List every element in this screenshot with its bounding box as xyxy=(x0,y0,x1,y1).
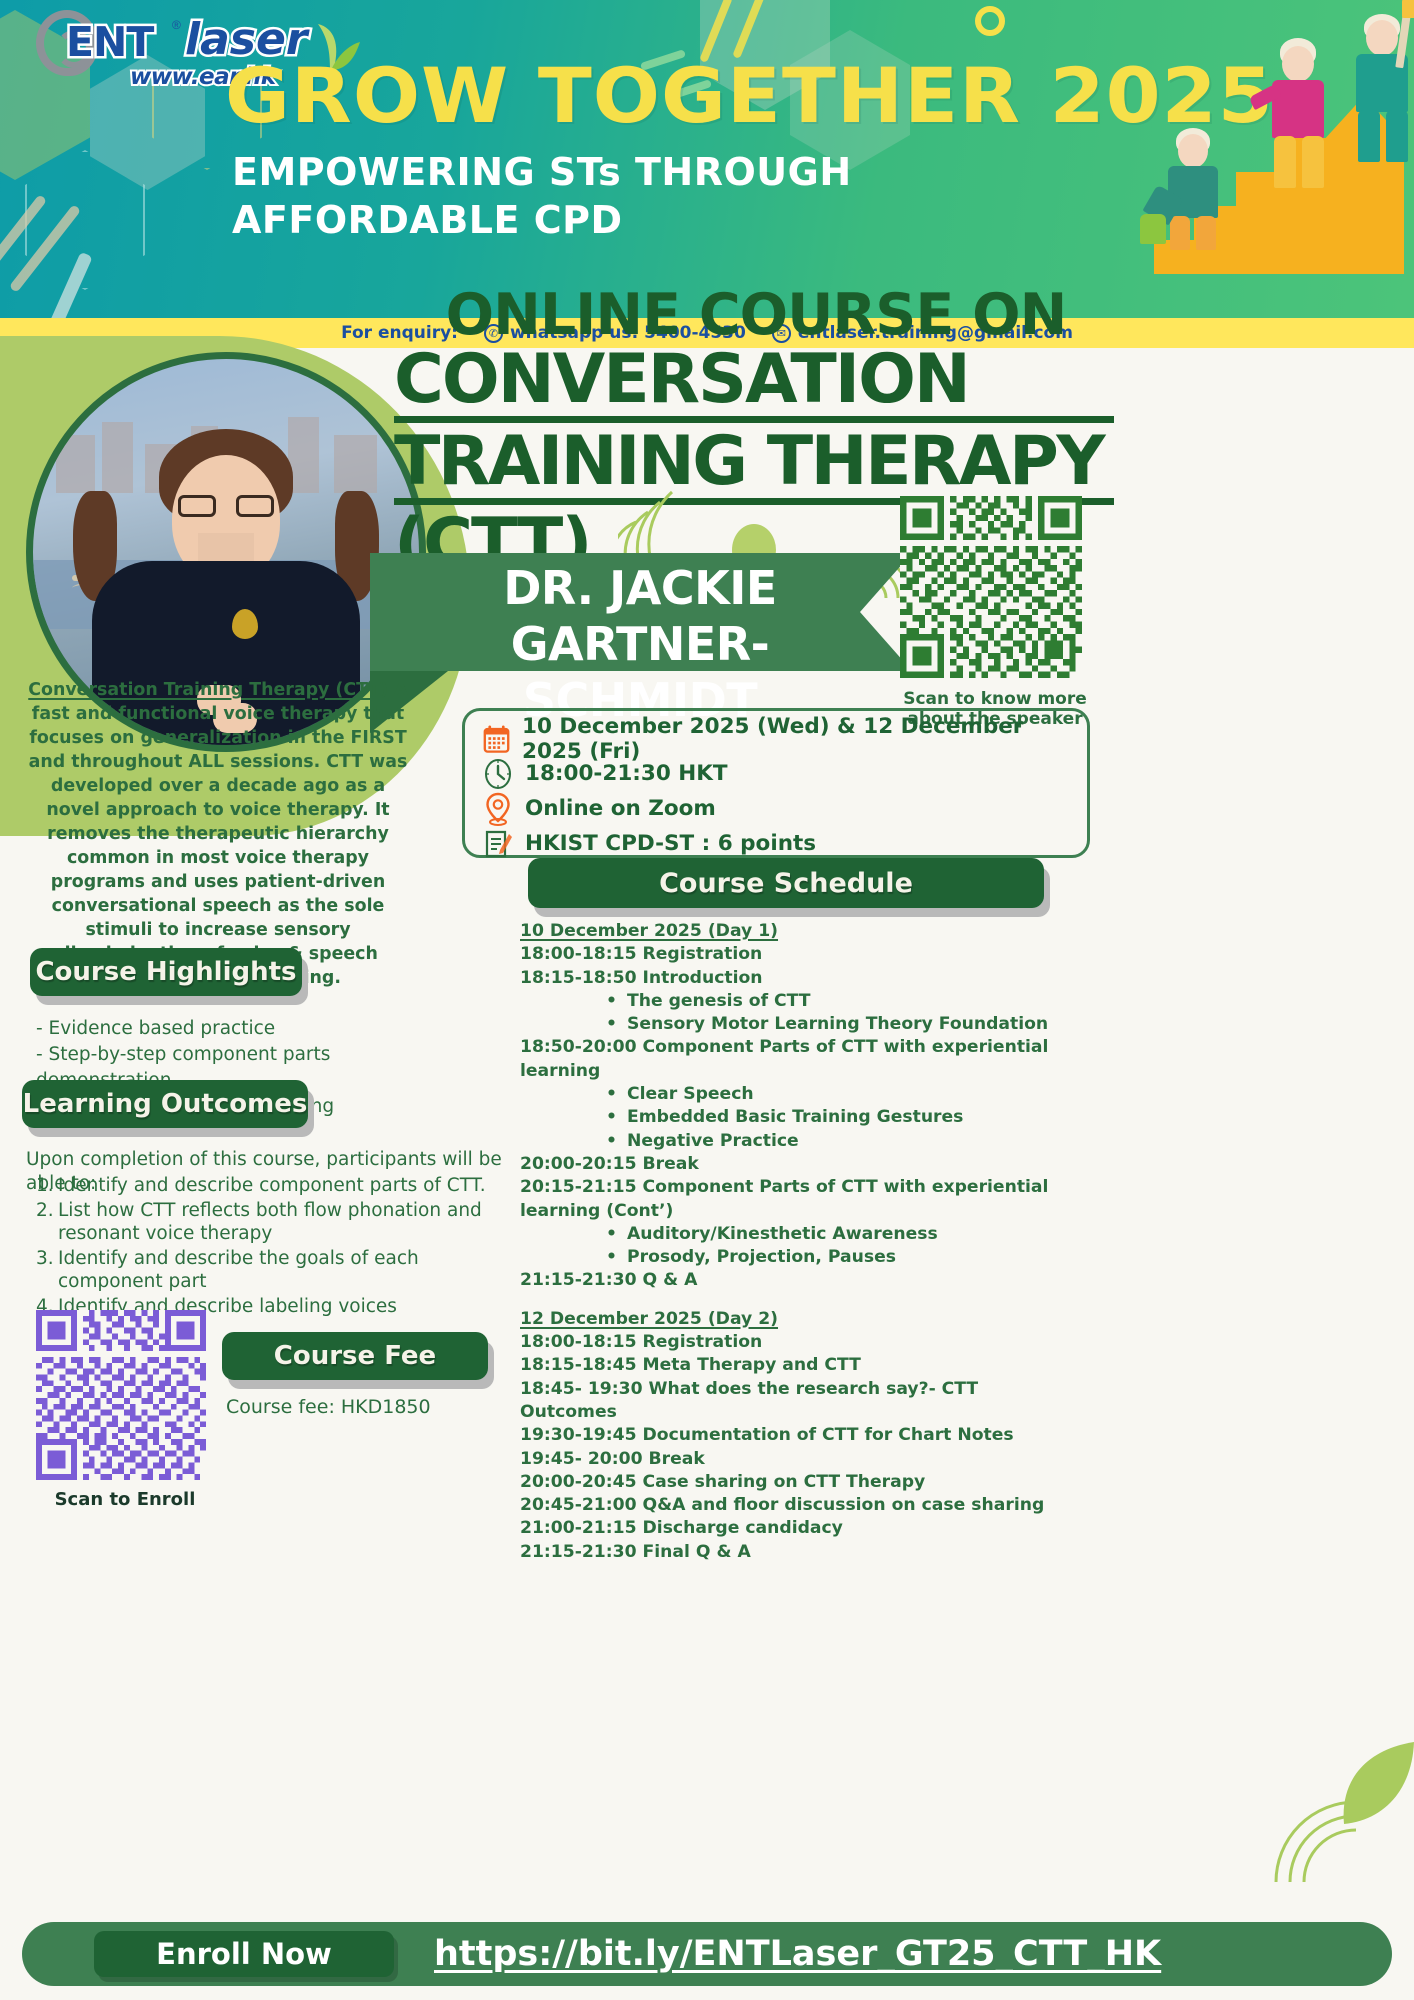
enroll-url-link[interactable]: https://bit.ly/ENTLaser_GT25_CTT_HK xyxy=(434,1934,1161,1974)
schedule-day2-heading: 12 December 2025 (Day 2) xyxy=(520,1308,1080,1331)
people-illustration xyxy=(854,0,1414,318)
leaf-decoration xyxy=(1244,1732,1414,1882)
schedule-bullet: Clear Speech xyxy=(520,1083,1080,1106)
clock-icon xyxy=(483,758,513,790)
schedule-line: 20:00-20:45 Case sharing on CTT Therapy xyxy=(520,1471,1080,1494)
schedule-bullet: Prosody, Projection, Pauses xyxy=(520,1246,1080,1269)
enroll-now-button[interactable]: Enroll Now xyxy=(94,1931,394,1977)
course-description: Conversation Training Therapy (CTT) A fa… xyxy=(22,678,414,990)
speaker-qr-code[interactable] xyxy=(900,496,1082,678)
enroll-qr-block[interactable]: Scan to Enroll xyxy=(36,1310,214,1510)
outcome-number: 1. xyxy=(36,1174,56,1198)
enroll-qr-caption: Scan to Enroll xyxy=(36,1489,214,1510)
enroll-qr-code[interactable] xyxy=(36,1310,206,1480)
schedule-line: 21:15-21:30 Final Q & A xyxy=(520,1541,1080,1564)
outcome-number: 3. xyxy=(36,1247,56,1294)
outcome-text: List how CTT reflects both flow phonatio… xyxy=(58,1199,506,1246)
course-fee-header: Course Fee xyxy=(222,1332,488,1380)
speaker-name-line-1: DR. JACKIE GARTNER- xyxy=(370,560,910,672)
description-heading: Conversation Training Therapy (CTT) xyxy=(28,680,388,700)
outcome-item: 1. Identify and describe component parts… xyxy=(36,1174,506,1198)
schedule-line: 20:00-20:15 Break xyxy=(520,1153,1080,1176)
schedule-line: 18:50-20:00 Component Parts of CTT with … xyxy=(520,1036,1080,1083)
outcome-text: Identify and describe component parts of… xyxy=(58,1174,486,1198)
logo-ent-text: ENT xyxy=(66,18,153,66)
course-highlights-header: Course Highlights xyxy=(30,948,302,996)
schedule-line: 19:45- 20:00 Break xyxy=(520,1448,1080,1471)
schedule-line: 18:15-18:45 Meta Therapy and CTT xyxy=(520,1354,1080,1377)
course-fee-amount: Course fee: HKD1850 xyxy=(226,1396,431,1418)
info-cpd-text: HKIST CPD-ST : 6 points xyxy=(525,831,816,856)
registered-mark: ® xyxy=(172,18,181,32)
title-line-2: CONVERSATION xyxy=(394,347,1114,423)
schedule-line: 18:15-18:50 Introduction xyxy=(520,967,1080,990)
highlight-item: - Evidence based practice xyxy=(36,1016,466,1042)
info-row-date: 10 December 2025 (Wed) & 12 December 202… xyxy=(483,721,1087,756)
schedule-day1-heading: 10 December 2025 (Day 1) xyxy=(520,920,1080,943)
title-line-1: ONLINE COURSE ON xyxy=(394,288,1114,343)
speaker-qr-caption-line-1: Scan to know more xyxy=(900,689,1090,709)
speaker-qr-block[interactable]: Scan to know more about the speaker xyxy=(900,496,1090,729)
schedule-bullet: Sensory Motor Learning Theory Foundation xyxy=(520,1013,1080,1036)
description-body: A fast and functional voice therapy that… xyxy=(29,680,408,988)
schedule-line: 18:00-18:15 Registration xyxy=(520,943,1080,966)
campaign-subtitle-2: AFFORDABLE CPD xyxy=(232,198,623,242)
course-schedule-header: Course Schedule xyxy=(528,858,1044,908)
outcome-item: 3. Identify and describe the goals of ea… xyxy=(36,1247,506,1294)
schedule-line: 18:00-18:15 Registration xyxy=(520,1331,1080,1354)
enroll-footer[interactable]: Enroll Now https://bit.ly/ENTLaser_GT25_… xyxy=(22,1922,1392,1986)
schedule-line: 20:45-21:00 Q&A and floor discussion on … xyxy=(520,1494,1080,1517)
schedule-line: 21:15-21:30 Q & A xyxy=(520,1269,1080,1292)
schedule-line: 18:45- 19:30 What does the research say?… xyxy=(520,1378,1080,1425)
schedule-line: 20:15-21:15 Component Parts of CTT with … xyxy=(520,1176,1080,1223)
schedule-bullet: Auditory/Kinesthetic Awareness xyxy=(520,1223,1080,1246)
schedule-bullet: The genesis of CTT xyxy=(520,990,1080,1013)
certificate-icon xyxy=(483,828,513,860)
header-banner: ENT ® laser www.ear.hk GROW TOGETHER 202… xyxy=(0,0,1414,318)
schedule-line: 21:00-21:15 Discharge candidacy xyxy=(520,1517,1080,1540)
info-row-location: Online on Zoom xyxy=(483,791,1087,826)
info-date-text: 10 December 2025 (Wed) & 12 December 202… xyxy=(522,714,1087,764)
schedule-bullet: Negative Practice xyxy=(520,1130,1080,1153)
calendar-icon xyxy=(483,723,510,755)
campaign-subtitle-1: EMPOWERING STs THROUGH xyxy=(232,150,852,194)
schedule-line: 19:30-19:45 Documentation of CTT for Cha… xyxy=(520,1424,1080,1447)
info-row-cpd: HKIST CPD-ST : 6 points xyxy=(483,826,1087,861)
outcome-number: 2. xyxy=(36,1199,56,1246)
location-pin-icon xyxy=(483,792,513,826)
course-schedule-list: 10 December 2025 (Day 1) 18:00-18:15 Reg… xyxy=(520,920,1080,1564)
learning-outcomes-header: Learning Outcomes xyxy=(22,1080,308,1128)
info-time-text: 18:00-21:30 HKT xyxy=(525,761,728,786)
outcome-text: Identify and describe the goals of each … xyxy=(58,1247,506,1294)
main-content: ONLINE COURSE ON CONVERSATION TRAINING T… xyxy=(0,348,1414,2000)
learning-outcomes-list: 1. Identify and describe component parts… xyxy=(36,1174,506,1319)
schedule-bullet: Embedded Basic Training Gestures xyxy=(520,1106,1080,1129)
lapel-pin xyxy=(232,609,258,639)
course-info-box: 10 December 2025 (Wed) & 12 December 202… xyxy=(462,708,1090,858)
speaker-name: DR. JACKIE GARTNER- SCHMIDT xyxy=(370,560,910,728)
outcome-item: 2. List how CTT reflects both flow phona… xyxy=(36,1199,506,1246)
info-location-text: Online on Zoom xyxy=(525,796,716,821)
